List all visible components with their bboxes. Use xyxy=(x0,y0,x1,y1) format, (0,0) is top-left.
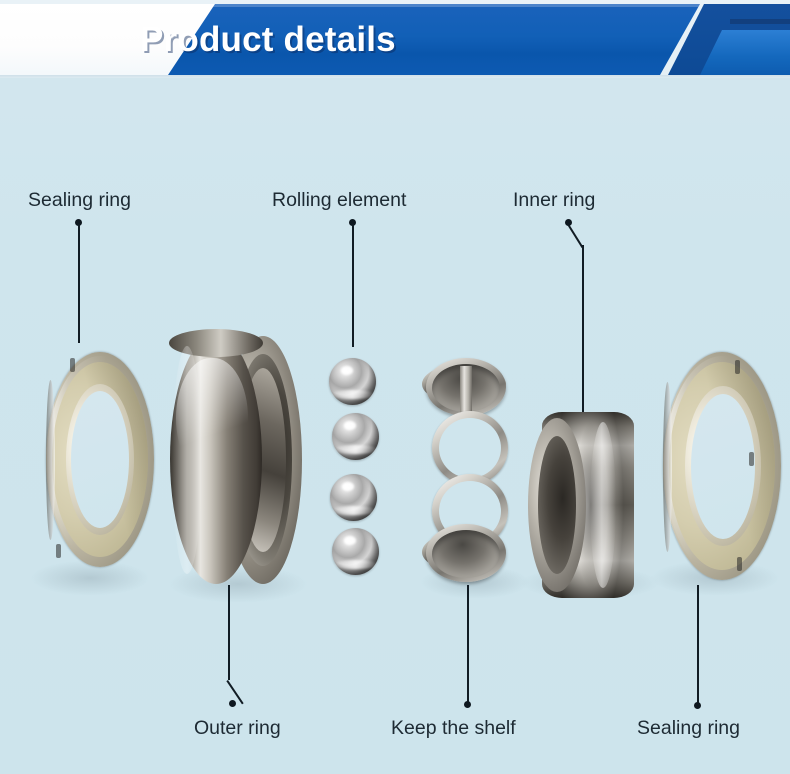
label-rolling-element: Rolling element xyxy=(272,189,406,212)
seal-notch-top xyxy=(735,360,740,374)
cage-pocket-4 xyxy=(432,530,500,578)
seal-bore xyxy=(71,391,129,528)
rolling-element-ball-4 xyxy=(332,528,379,575)
leader-dot-sealing-ring-right xyxy=(694,702,701,709)
seal-left-edge xyxy=(663,382,672,552)
page-title: Product details xyxy=(140,20,396,60)
header-banner: Product details xyxy=(0,0,790,78)
banner-underline xyxy=(0,75,790,78)
part-inner-ring xyxy=(528,410,644,600)
seal-notch-mid xyxy=(749,452,754,466)
label-sealing-ring-right: Sealing ring xyxy=(637,717,740,740)
outer-ring-top-highlight xyxy=(176,358,248,478)
leader-line-inner-ring-diagonal xyxy=(568,224,584,248)
seal-left-edge xyxy=(46,380,55,540)
rolling-element-ball-3 xyxy=(330,474,377,521)
rolling-element-ball-1 xyxy=(329,358,376,405)
leader-line-outer-ring xyxy=(228,585,230,680)
seal-bore xyxy=(691,394,755,539)
leader-line-rolling-element xyxy=(352,224,354,347)
label-inner-ring: Inner ring xyxy=(513,189,595,212)
leader-line-keep-the-shelf xyxy=(467,585,469,703)
label-outer-ring: Outer ring xyxy=(194,717,281,740)
label-sealing-ring-left: Sealing ring xyxy=(28,189,131,212)
leader-line-inner-ring xyxy=(582,245,584,422)
part-outer-ring xyxy=(170,328,302,590)
product-details-page: Product details Sealing ring Rolling ele… xyxy=(0,0,790,774)
rolling-element-ball-2 xyxy=(332,413,379,460)
part-sealing-ring-right xyxy=(663,352,781,580)
seal-notch-bottom xyxy=(737,557,742,571)
leader-dot-outer-ring xyxy=(229,700,236,707)
part-sealing-ring-left xyxy=(46,352,154,567)
part-cage xyxy=(424,356,510,586)
inner-ring-highlight xyxy=(590,422,616,588)
seal-notch-bottom xyxy=(56,544,61,558)
banner-dash-accent xyxy=(730,19,790,24)
leader-line-sealing-ring-left xyxy=(78,224,80,343)
label-keep-the-shelf: Keep the shelf xyxy=(391,717,516,740)
leader-line-sealing-ring-right xyxy=(697,585,699,704)
inner-ring-bore xyxy=(538,436,576,574)
leader-dot-keep-the-shelf xyxy=(464,701,471,708)
seal-notch-top xyxy=(70,358,75,372)
